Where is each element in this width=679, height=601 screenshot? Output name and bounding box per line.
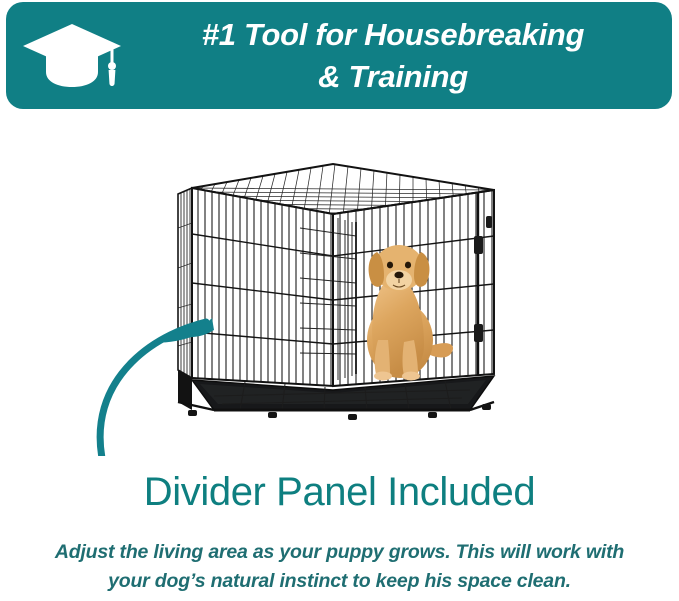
puppy-paw-left — [374, 372, 392, 381]
puppy-paw-right — [402, 372, 420, 381]
crate-illustration — [0, 118, 679, 456]
header-banner: #1 Tool for Housebreaking & Training — [6, 2, 672, 109]
puppy-eye-left — [387, 262, 393, 269]
crate-foot — [268, 412, 277, 418]
product-photo — [0, 118, 679, 456]
puppy-eye-right — [405, 262, 411, 269]
banner-headline-line-1: #1 Tool for Housebreaking — [202, 14, 584, 56]
door-hinge — [486, 216, 492, 228]
graduation-cap-icon — [20, 20, 124, 92]
door-latch-lower — [474, 324, 483, 342]
banner-headline: #1 Tool for Housebreaking & Training — [124, 10, 662, 102]
product-feature-image: #1 Tool for Housebreaking & Training — [0, 0, 679, 601]
crate-foot — [348, 414, 357, 420]
door-latch-upper — [474, 236, 483, 254]
crate-front-panel — [192, 178, 333, 398]
subcopy-line-1: Adjust the living area as your puppy gro… — [30, 538, 649, 567]
crate-foot-right — [482, 404, 491, 410]
banner-headline-line-2: & Training — [318, 56, 468, 98]
page-headline: Divider Panel Included — [0, 470, 679, 515]
page-subcopy: Adjust the living area as your puppy gro… — [30, 538, 649, 596]
subcopy-line-2: your dog’s natural instinct to keep his … — [30, 567, 649, 596]
crate-foot — [428, 412, 437, 418]
puppy-nose — [394, 272, 403, 279]
crate-left-end-panel — [178, 188, 192, 378]
crate-foot-left — [188, 410, 197, 416]
